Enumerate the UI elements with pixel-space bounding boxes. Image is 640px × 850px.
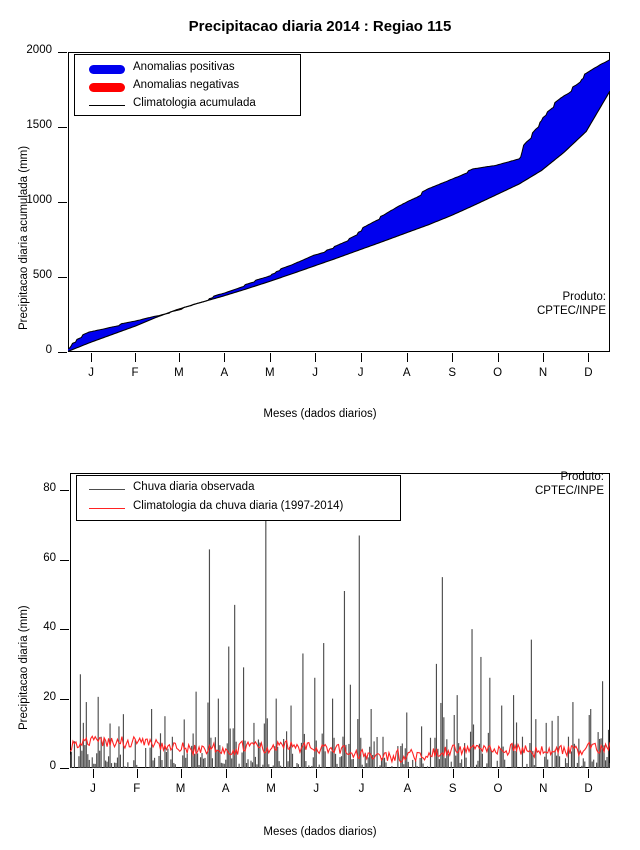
legend-line bbox=[89, 489, 125, 490]
legend-line bbox=[89, 508, 125, 509]
legend-label: Climatologia da chuva diaria (1997-2014) bbox=[133, 500, 343, 512]
legend-label: Chuva diaria observada bbox=[133, 481, 254, 493]
bottom-plot-canvas bbox=[0, 0, 640, 850]
bottom-legend: Chuva diaria observadaClimatologia da ch… bbox=[76, 475, 401, 521]
bottom-produto-annotation: Produto: CPTEC/INPE bbox=[424, 470, 604, 499]
